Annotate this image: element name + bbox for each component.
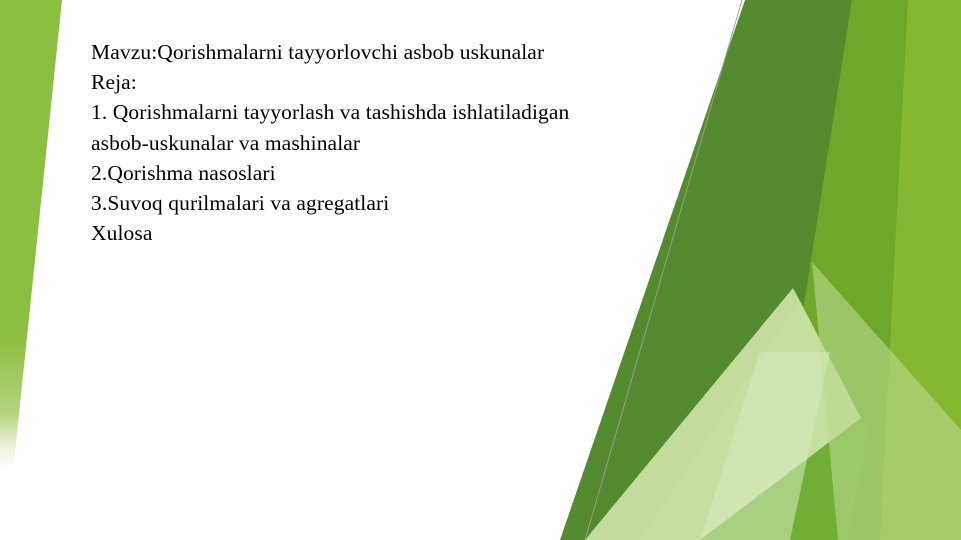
slide-line-plan-heading: Reja: [91,67,671,97]
slide-line-plan-item-2: 2.Qorishma nasoslari [91,158,671,188]
shape-pale-green-overlay [585,288,861,540]
wedge-shape [0,0,62,470]
shape-pale-sliver [700,352,830,540]
slide-text-block: Mavzu:Qorishmalarni tayyorlovchi asbob u… [91,37,671,248]
shape-mid-green-lower [640,300,868,540]
slide-line-plan-item-1b: asbob-uskunalar va mashinalar [91,128,671,158]
slide-line-conclusion: Xulosa [91,218,671,248]
shape-light-green-slab [812,262,961,540]
slide-line-plan-item-1a: 1. Qorishmalarni tayyorlash va tashishda… [91,97,671,127]
slide-line-topic: Mavzu:Qorishmalarni tayyorlovchi asbob u… [91,37,671,67]
shape-right-edge-band [846,0,961,540]
shape-bright-green-band [700,0,908,540]
presentation-slide: Mavzu:Qorishmalarni tayyorlovchi asbob u… [0,0,961,540]
slide-line-plan-item-3: 3.Suvoq qurilmalari va agregatlari [91,188,671,218]
